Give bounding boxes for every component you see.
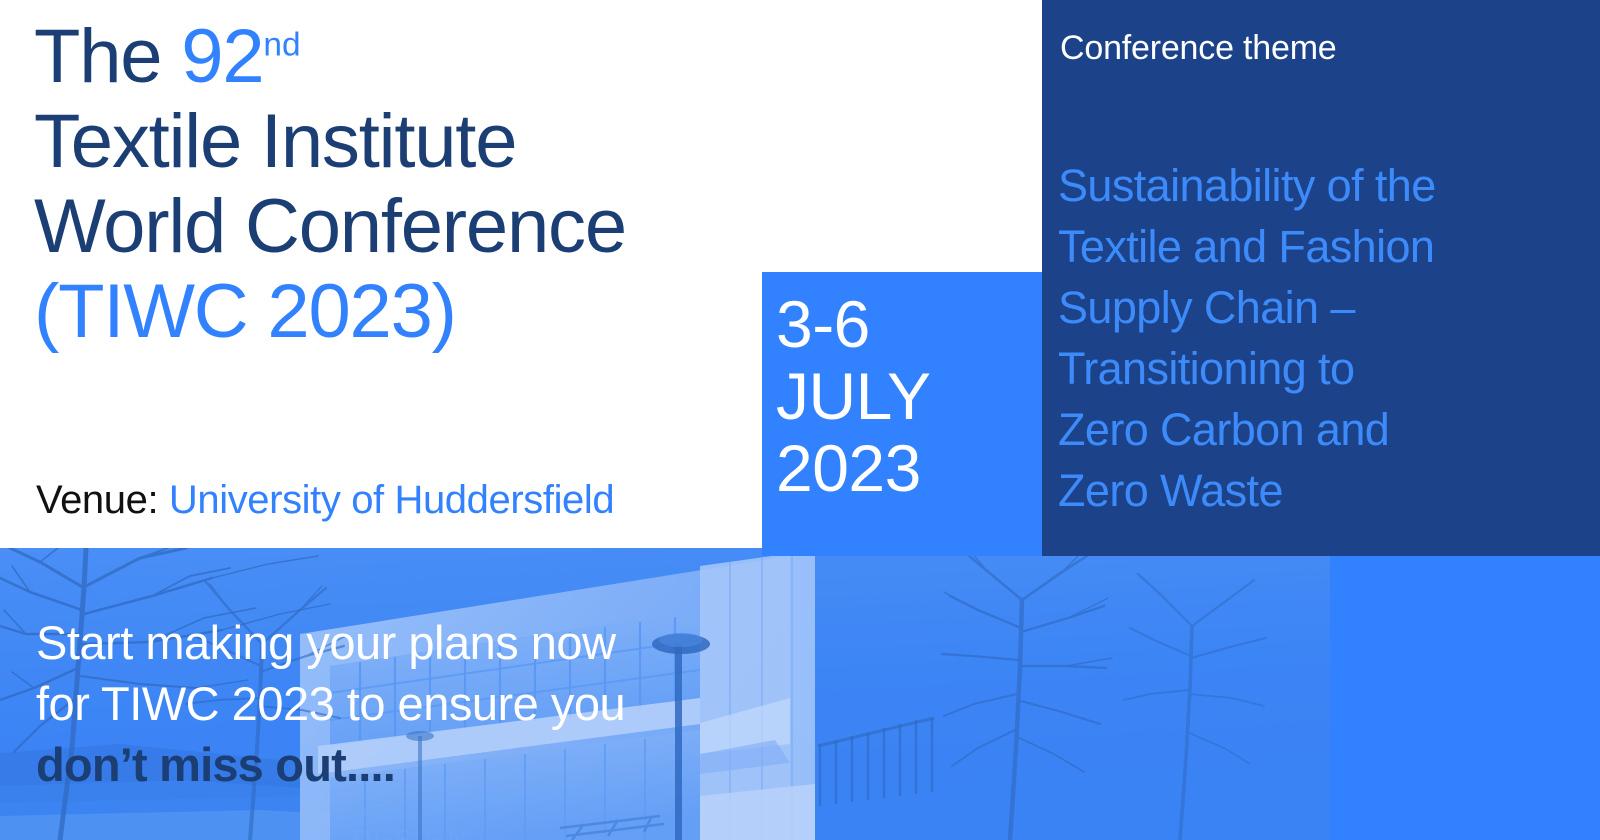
- conference-theme-label: Conference theme: [1060, 28, 1337, 69]
- call-to-action: Start making your plans now for TIWC 202…: [36, 612, 796, 795]
- photo-right-blue-fill: [1330, 548, 1600, 840]
- date-month: JULY: [776, 360, 1036, 432]
- date-days: 3-6: [776, 288, 1036, 360]
- title-line-1: The 92nd: [34, 14, 754, 99]
- theme-line-3: Supply Chain –: [1058, 277, 1588, 338]
- conference-theme-text: Sustainability of the Textile and Fashio…: [1058, 155, 1588, 521]
- theme-line-1: Sustainability of the: [1058, 155, 1588, 216]
- cta-line-3-emphasis: don’t miss out....: [36, 734, 796, 795]
- title-ordinal-suffix: nd: [263, 27, 300, 64]
- conference-banner: ART DESIGN: [0, 0, 1600, 840]
- title-prefix: The: [34, 14, 181, 99]
- date-year: 2023: [776, 432, 1036, 504]
- theme-line-5: Zero Carbon and: [1058, 399, 1588, 460]
- venue-value: University of Huddersfield: [169, 478, 614, 522]
- title-line-2: Textile Institute: [34, 99, 754, 184]
- cta-line-1: Start making your plans now: [36, 612, 796, 673]
- theme-line-4: Transitioning to: [1058, 338, 1588, 399]
- title-ordinal-number: 92: [181, 14, 263, 99]
- title-line-4-acronym: (TIWC 2023): [34, 269, 754, 354]
- theme-line-2: Textile and Fashion: [1058, 216, 1588, 277]
- venue-label: Venue:: [36, 478, 158, 522]
- title-line-3: World Conference: [34, 184, 754, 269]
- theme-line-6: Zero Waste: [1058, 460, 1588, 521]
- conference-date-text: 3-6 JULY 2023: [776, 288, 1036, 504]
- conference-title: The 92nd Textile Institute World Confere…: [34, 14, 754, 354]
- venue-line: Venue: University of Huddersfield: [36, 477, 614, 523]
- cta-line-2: for TIWC 2023 to ensure you: [36, 673, 796, 734]
